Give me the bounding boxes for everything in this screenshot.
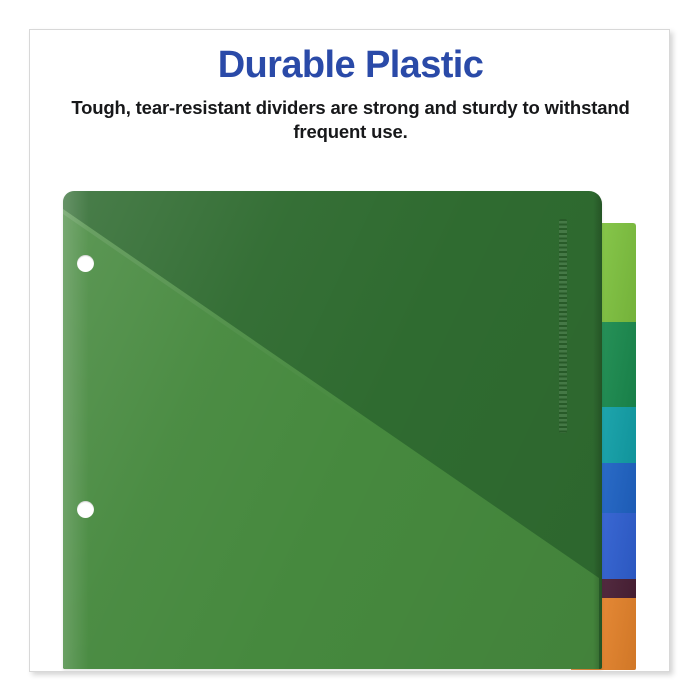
top-punch-hole	[77, 255, 94, 272]
page-subtitle: Tough, tear-resistant dividers are stron…	[61, 96, 641, 143]
headline-block: Durable Plastic Tough, tear-resistant di…	[30, 46, 670, 143]
bottom-punch-hole	[77, 501, 94, 518]
product-feature-card: Durable Plastic Tough, tear-resistant di…	[29, 29, 670, 672]
page-title: Durable Plastic	[30, 46, 670, 86]
plastic-divider-sheet	[63, 191, 602, 669]
reinforced-binding-strip	[559, 219, 567, 433]
right-edge-shading	[593, 191, 602, 669]
diagonal-pocket-ply	[63, 191, 602, 669]
